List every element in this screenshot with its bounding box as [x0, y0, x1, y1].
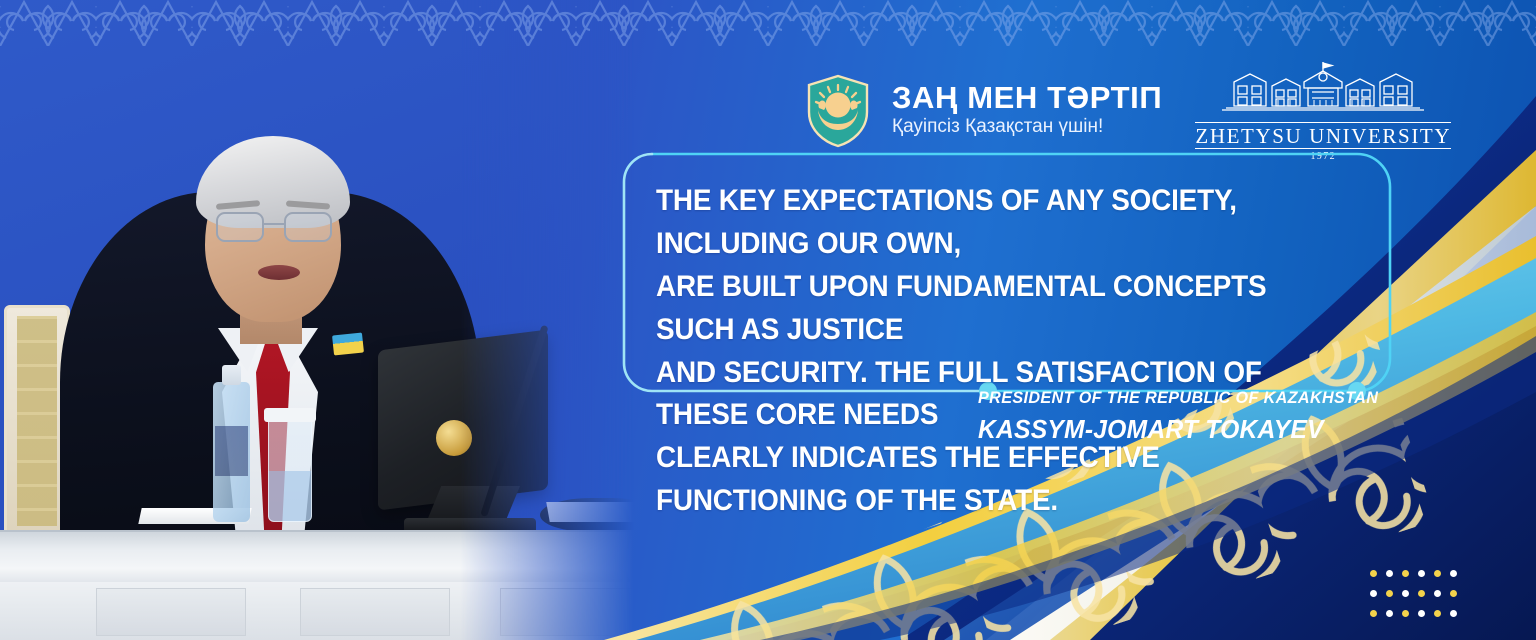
water-glass	[268, 416, 312, 522]
grid-dot	[1450, 570, 1457, 577]
banner-root: ЗАҢ МЕН ТӘРТІП Қауіпсіз Қазақстан үшін!	[0, 0, 1536, 640]
lens-left	[216, 212, 264, 242]
dot-grid	[1370, 570, 1466, 630]
quote-line: CLEARLY INDICATES THE EFFECTIVE FUNCTION…	[656, 437, 1318, 523]
gold-emblem-disc	[436, 420, 472, 456]
campaign-wordmark: ЗАҢ МЕН ТӘРТІП Қауіпсіз Қазақстан үшін!	[892, 82, 1162, 140]
desk-panel	[300, 588, 450, 636]
grid-dot	[1434, 590, 1441, 597]
grid-dot	[1434, 610, 1441, 617]
grid-dot	[1370, 610, 1377, 617]
speaker-photo	[0, 0, 640, 640]
grid-dot	[1386, 570, 1393, 577]
grid-dot	[1450, 590, 1457, 597]
quote-line: THE KEY EXPECTATIONS OF ANY SOCIETY, INC…	[656, 180, 1318, 266]
grid-dot	[1402, 590, 1409, 597]
water-bottle	[213, 382, 250, 522]
quote-line: ARE BUILT UPON FUNDAMENTAL CONCEPTS SUCH…	[656, 266, 1318, 352]
grid-dot	[1402, 570, 1409, 577]
desk-panel	[500, 588, 650, 636]
lens-right	[284, 212, 332, 242]
desk-panel	[96, 588, 246, 636]
university-logo: ZHETYSU UNIVERSITY 1972	[1212, 60, 1434, 162]
grid-dot	[1418, 610, 1425, 617]
mouth	[258, 265, 300, 280]
shield-sun-hands-emblem	[806, 74, 870, 148]
grid-dot	[1370, 590, 1377, 597]
grid-dot	[1450, 610, 1457, 617]
campaign-subtitle: Қауіпсіз Қазақстан үшін!	[892, 114, 1162, 140]
attribution-block: PRESIDENT OF THE REPUBLIC OF KAZAKHSTAN …	[978, 388, 1399, 445]
university-name: ZHETYSU UNIVERSITY	[1195, 122, 1451, 149]
quote-text: THE KEY EXPECTATIONS OF ANY SOCIETY, INC…	[656, 180, 1318, 523]
flag-lapel-pin	[332, 332, 364, 355]
attribution-name: KASSYM-JOMART TOKAYEV	[978, 414, 1378, 445]
grid-dot	[1386, 610, 1393, 617]
grid-dot	[1434, 570, 1441, 577]
university-building-icon	[1212, 60, 1434, 122]
eyeglasses	[214, 212, 334, 242]
tablet-screen	[378, 330, 548, 511]
attribution-role: PRESIDENT OF THE REPUBLIC OF KAZAKHSTAN	[978, 388, 1378, 408]
grid-dot	[1418, 570, 1425, 577]
quote-container: THE KEY EXPECTATIONS OF ANY SOCIETY, INC…	[622, 152, 1390, 390]
grid-dot	[1418, 590, 1425, 597]
glasses-bridge	[264, 223, 284, 225]
grid-dot	[1370, 570, 1377, 577]
campaign-title: ЗАҢ МЕН ТӘРТІП	[892, 82, 1162, 114]
grid-dot	[1386, 590, 1393, 597]
grid-dot	[1402, 610, 1409, 617]
papers-right	[546, 502, 642, 522]
header-logos: ЗАҢ МЕН ТӘРТІП Қауіпсіз Қазақстан үшін!	[806, 60, 1434, 162]
